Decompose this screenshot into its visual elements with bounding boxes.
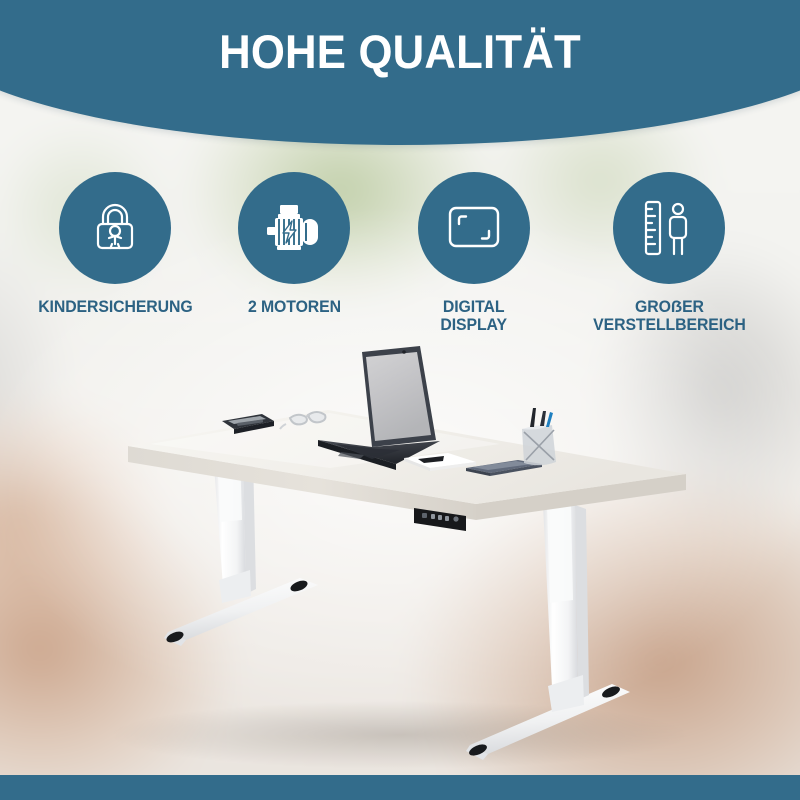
page-title: HOHE QUALITÄT (0, 28, 800, 75)
digital-display-screen-icon (444, 202, 504, 254)
feature-item-digital-display: DIGITAL DISPLAY (385, 172, 563, 335)
feature-label: 2 MOTOREN (248, 299, 341, 317)
feature-icon-circle (418, 172, 530, 284)
feature-list: KINDERSICHERUNG (0, 172, 800, 335)
product-feature-poster: HOHE QUALITÄT KINDERSICHERUNG (0, 0, 800, 800)
feature-label: KINDERSICHERUNG (38, 299, 192, 317)
feature-icon-circle (238, 172, 350, 284)
feature-icon-circle (613, 172, 725, 284)
ruler-person-height-icon (638, 198, 700, 258)
feature-label: GROẞER VERSTELLBEREICH (593, 299, 746, 335)
feature-item-kindersicherung: KINDERSICHERUNG (26, 172, 204, 335)
feature-label: DIGITAL DISPLAY (440, 299, 507, 335)
feature-icon-circle (59, 172, 171, 284)
electric-motor-icon (263, 199, 325, 257)
feature-item-2-motoren: 2 MOTOREN (205, 172, 383, 335)
footer-bar (0, 775, 800, 800)
feature-item-grosser-verstellbereich: GROẞER VERSTELLBEREICH (564, 172, 774, 335)
child-lock-padlock-icon (85, 198, 145, 258)
